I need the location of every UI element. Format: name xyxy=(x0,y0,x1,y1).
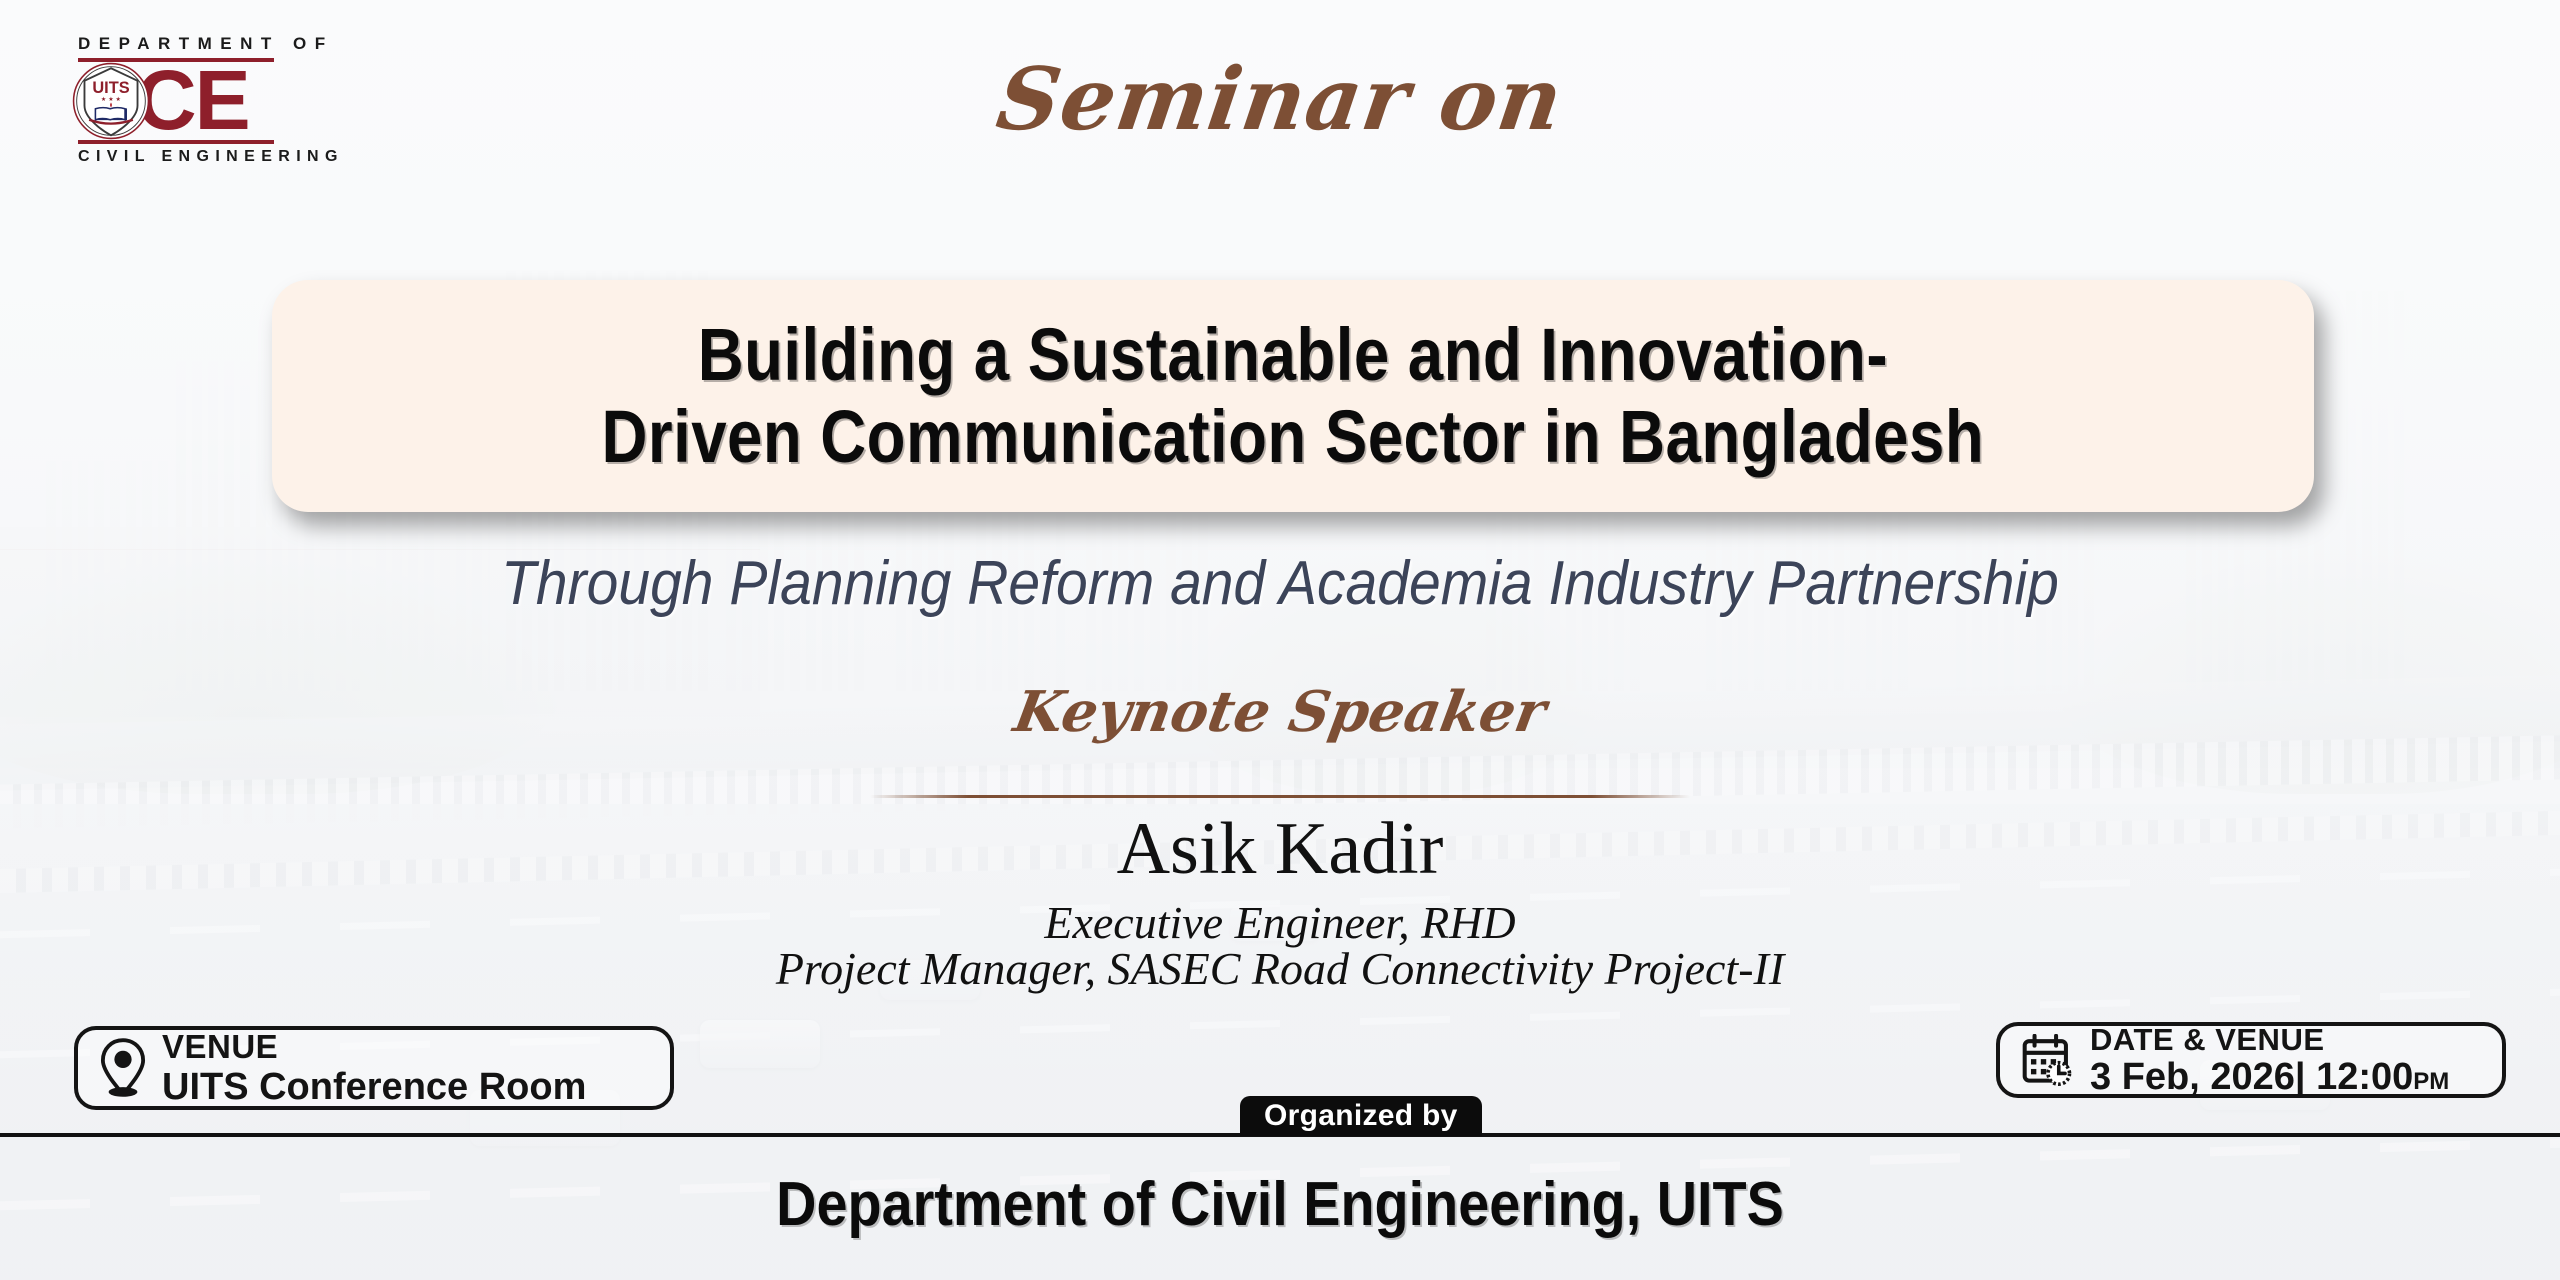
subtitle: Through Planning Reform and Academia Ind… xyxy=(102,548,2457,620)
venue-pill-title: VENUE xyxy=(162,1030,586,1063)
map-pin-icon xyxy=(100,1038,146,1098)
date-pill-value: 3 Feb, 2026| 12:00PM xyxy=(2090,1058,2449,1096)
seminar-on-script: Seminar on xyxy=(0,48,2560,152)
venue-pill-text: VENUE UITS Conference Room xyxy=(162,1030,586,1106)
speaker-role-secondary: Project Manager, SASEC Road Connectivity… xyxy=(0,942,2560,996)
organizer-name: Department of Civil Engineering, UITS xyxy=(128,1168,2432,1242)
date-pill-ampm: PM xyxy=(2413,1068,2449,1095)
calendar-clock-icon xyxy=(2022,1034,2074,1086)
title-card: Building a Sustainable and Innovation- D… xyxy=(272,280,2314,512)
venue-pill[interactable]: VENUE UITS Conference Room xyxy=(74,1026,674,1110)
seminar-banner: DEPARTMENT OF CE UITS ★ ★ ★ CIVIL ENGINE… xyxy=(0,0,2560,1280)
organized-by-tab: Organized by xyxy=(1240,1096,1482,1136)
date-pill[interactable]: DATE & VENUE 3 Feb, 2026| 12:00PM xyxy=(1996,1022,2506,1098)
date-pill-datetime: 3 Feb, 2026| 12:00 xyxy=(2090,1056,2413,1098)
page-title: Building a Sustainable and Innovation- D… xyxy=(602,314,1985,478)
venue-pill-value: UITS Conference Room xyxy=(162,1068,586,1106)
date-pill-text: DATE & VENUE 3 Feb, 2026| 12:00PM xyxy=(2090,1024,2449,1096)
date-pill-title: DATE & VENUE xyxy=(2090,1024,2449,1055)
speaker-name: Asik Kadir xyxy=(0,806,2560,892)
keynote-speaker-label: Keynote Speaker xyxy=(0,676,2560,748)
organized-by-label: Organized by xyxy=(1264,1099,1458,1133)
keynote-divider xyxy=(870,795,1690,798)
